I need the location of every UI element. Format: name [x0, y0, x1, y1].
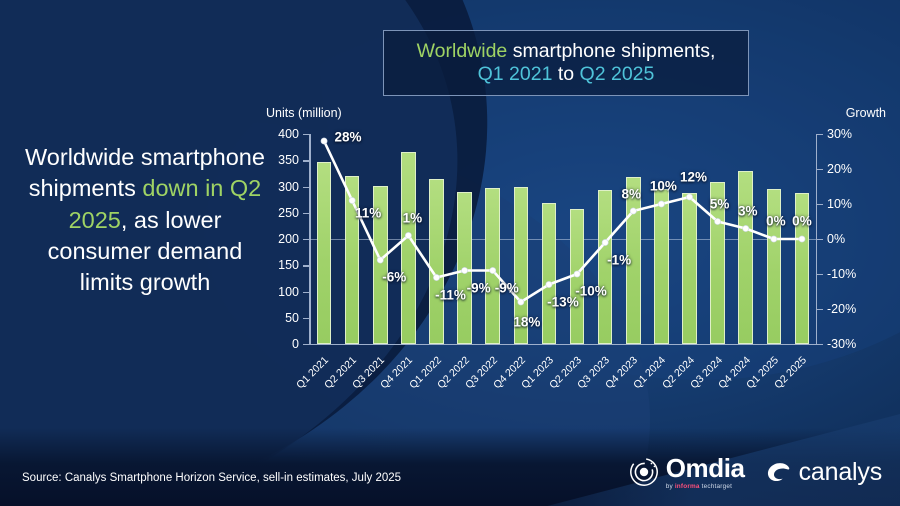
left-tick-label: 150	[278, 258, 299, 272]
right-tick-label: -30%	[827, 337, 856, 351]
left-tick-label: 50	[285, 311, 299, 325]
chart-title-to: to	[552, 63, 579, 85]
growth-label-q3-2022: -9%	[495, 280, 519, 295]
left-tick-label: 300	[278, 180, 299, 194]
growth-point-q1-2023	[546, 281, 552, 287]
right-tick-label: 10%	[827, 197, 852, 211]
y-axis-title: Units (million)	[266, 106, 342, 120]
growth-label-q3-2021: -6%	[382, 270, 406, 285]
headline-text: Worldwide smartphone shipments down in Q…	[20, 142, 270, 298]
growth-label-q3-2023: -1%	[607, 252, 631, 267]
left-tick-label: 250	[278, 206, 299, 220]
omdia-mark-icon	[629, 457, 659, 487]
chart-title-start-quarter: Q1 2021	[478, 63, 553, 85]
growth-point-q3-2023	[602, 239, 608, 245]
left-tick-label: 100	[278, 285, 299, 299]
right-tick-label: -20%	[827, 302, 856, 316]
left-tick	[303, 292, 309, 293]
growth-point-q3-2021	[377, 257, 383, 263]
growth-label-q4-2024: 3%	[738, 203, 758, 218]
growth-label-q1-2021: 28%	[335, 130, 362, 145]
growth-point-q1-2025	[771, 236, 777, 242]
left-tick	[303, 265, 309, 266]
omdia-tagline-techtarget: techtarget	[700, 483, 732, 490]
right-tick-label: 0%	[827, 232, 845, 246]
omdia-tagline: by informa techtarget	[666, 484, 745, 490]
growth-point-q2-2023	[574, 271, 580, 277]
left-tick-label: 200	[278, 232, 299, 246]
growth-point-q1-2022	[433, 274, 439, 280]
chart-title-rest-1: smartphone shipments,	[507, 40, 715, 62]
right-tick	[817, 274, 823, 275]
chart-title-line-1: Worldwide smartphone shipments,	[417, 40, 716, 63]
right-tick-label: -10%	[827, 267, 856, 281]
growth-point-q2-2022	[462, 267, 468, 273]
chart-title-box: Worldwide smartphone shipments, Q1 2021 …	[383, 30, 749, 96]
right-tick	[817, 309, 823, 310]
growth-point-q2-2021	[349, 197, 355, 203]
logo-group: Omdia by informa techtarget canalys	[629, 455, 882, 490]
right-tick-label: 30%	[827, 127, 852, 141]
omdia-logo: Omdia by informa techtarget	[629, 455, 745, 490]
chart-title-end-quarter: Q2 2025	[580, 63, 655, 85]
omdia-wordmark: Omdia by informa techtarget	[666, 455, 745, 490]
growth-point-q4-2021	[405, 232, 411, 238]
left-tick	[303, 134, 309, 135]
growth-point-q4-2023	[630, 208, 636, 214]
growth-point-q1-2024	[658, 201, 664, 207]
growth-label-q2-2023: -10%	[575, 284, 607, 299]
right-tick-label: 20%	[827, 162, 852, 176]
growth-label-q1-2022: -11%	[435, 287, 466, 302]
growth-label-q4-2022: 18%	[513, 315, 540, 330]
growth-point-q4-2022	[518, 299, 524, 305]
left-tick	[303, 239, 309, 240]
left-tick-label: 350	[278, 153, 299, 167]
growth-label-q1-2023: -13%	[547, 294, 579, 309]
x-axis-labels: Q1 2021Q2 2021Q3 2021Q4 2021Q1 2022Q2 20…	[310, 350, 816, 420]
chart-title-worldwide: Worldwide	[417, 40, 508, 62]
left-tick	[303, 318, 309, 319]
growth-point-q3-2022	[490, 267, 496, 273]
growth-label-q1-2025: 0%	[766, 214, 786, 229]
right-tick	[817, 239, 823, 240]
right-tick	[817, 134, 823, 135]
growth-label-q2-2025: 0%	[792, 214, 812, 229]
growth-label-q2-2024: 12%	[680, 170, 707, 185]
growth-point-q2-2025	[799, 236, 805, 242]
growth-label-q4-2021: 1%	[403, 210, 423, 225]
chart: Units (million) Growth 05010015020025030…	[258, 106, 888, 366]
growth-label-q4-2023: 8%	[622, 187, 642, 202]
right-tick	[817, 344, 823, 345]
growth-label-q2-2022: -9%	[467, 280, 491, 295]
right-tick	[817, 169, 823, 170]
right-tick	[817, 204, 823, 205]
growth-label-q3-2024: 5%	[710, 196, 730, 211]
chart-title-line-2: Q1 2021 to Q2 2025	[478, 63, 655, 86]
omdia-tagline-by: by	[666, 483, 675, 490]
growth-point-q4-2024	[743, 225, 749, 231]
growth-point-q2-2024	[686, 194, 692, 200]
growth-point-q1-2021	[321, 138, 327, 144]
growth-point-q3-2024	[715, 218, 721, 224]
omdia-name: Omdia	[666, 455, 745, 481]
growth-label-q1-2024: 10%	[650, 179, 677, 194]
omdia-tagline-informa: informa	[675, 483, 700, 490]
growth-line-series	[310, 134, 816, 344]
plot-area: 050100150200250300350400 -30%-20%-10%0%1…	[310, 134, 816, 344]
canalys-name: canalys	[799, 458, 882, 487]
canalys-mark-icon	[765, 459, 792, 486]
left-tick-label: 400	[278, 127, 299, 141]
left-tick	[303, 187, 309, 188]
left-tick	[303, 160, 309, 161]
left-tick	[303, 344, 309, 345]
left-tick-label: 0	[292, 337, 299, 351]
y2-axis-title: Growth	[846, 106, 886, 120]
growth-label-q2-2021: 11%	[355, 205, 381, 220]
source-note: Source: Canalys Smartphone Horizon Servi…	[22, 472, 401, 484]
canalys-logo: canalys	[765, 458, 882, 487]
left-tick	[303, 213, 309, 214]
